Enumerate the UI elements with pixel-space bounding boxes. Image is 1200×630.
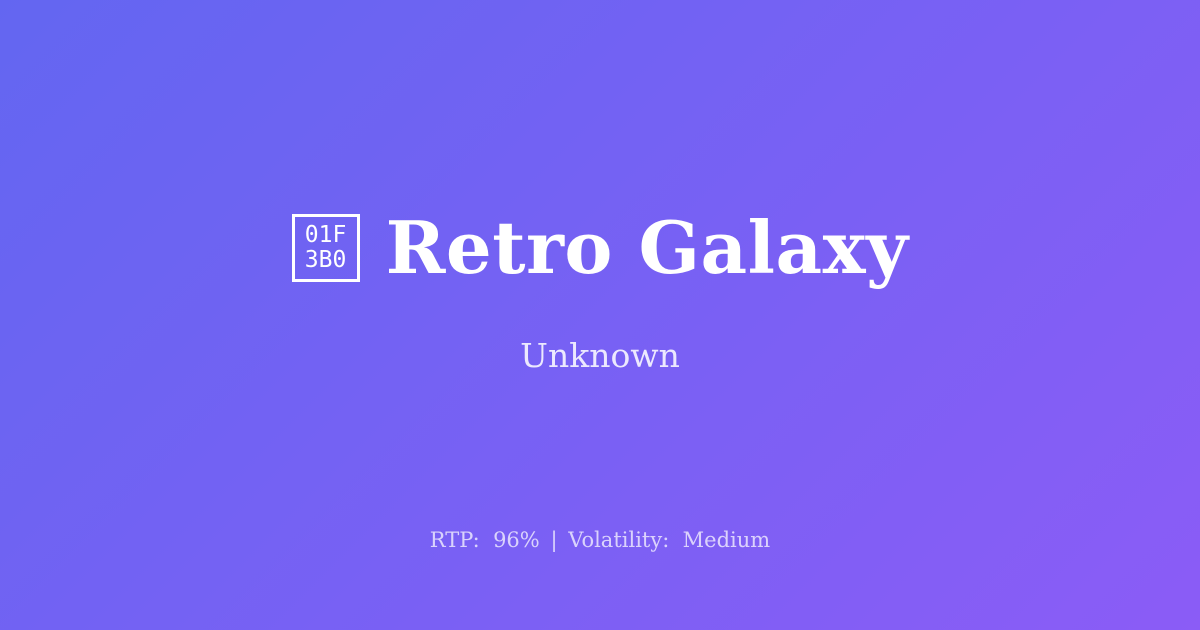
game-provider-label: Unknown	[520, 336, 680, 376]
volatility-value: Medium	[683, 528, 771, 552]
stats-separator: |	[546, 528, 561, 552]
game-og-card: 01F 3B0 Retro Galaxy Unknown RTP: 96% | …	[0, 0, 1200, 630]
game-stats-line: RTP: 96% | Volatility: Medium	[0, 528, 1200, 553]
tofu-codepoint-upper: 01F	[305, 223, 347, 248]
volatility-label: Volatility:	[568, 528, 669, 552]
slot-machine-emoji-tofu-icon: 01F 3B0	[292, 214, 360, 282]
rtp-label: RTP:	[430, 528, 480, 552]
rtp-value: 96%	[493, 528, 540, 552]
tofu-codepoint-lower: 3B0	[305, 248, 347, 273]
title-row: 01F 3B0 Retro Galaxy	[292, 212, 909, 284]
page-title: Retro Galaxy	[386, 212, 909, 284]
